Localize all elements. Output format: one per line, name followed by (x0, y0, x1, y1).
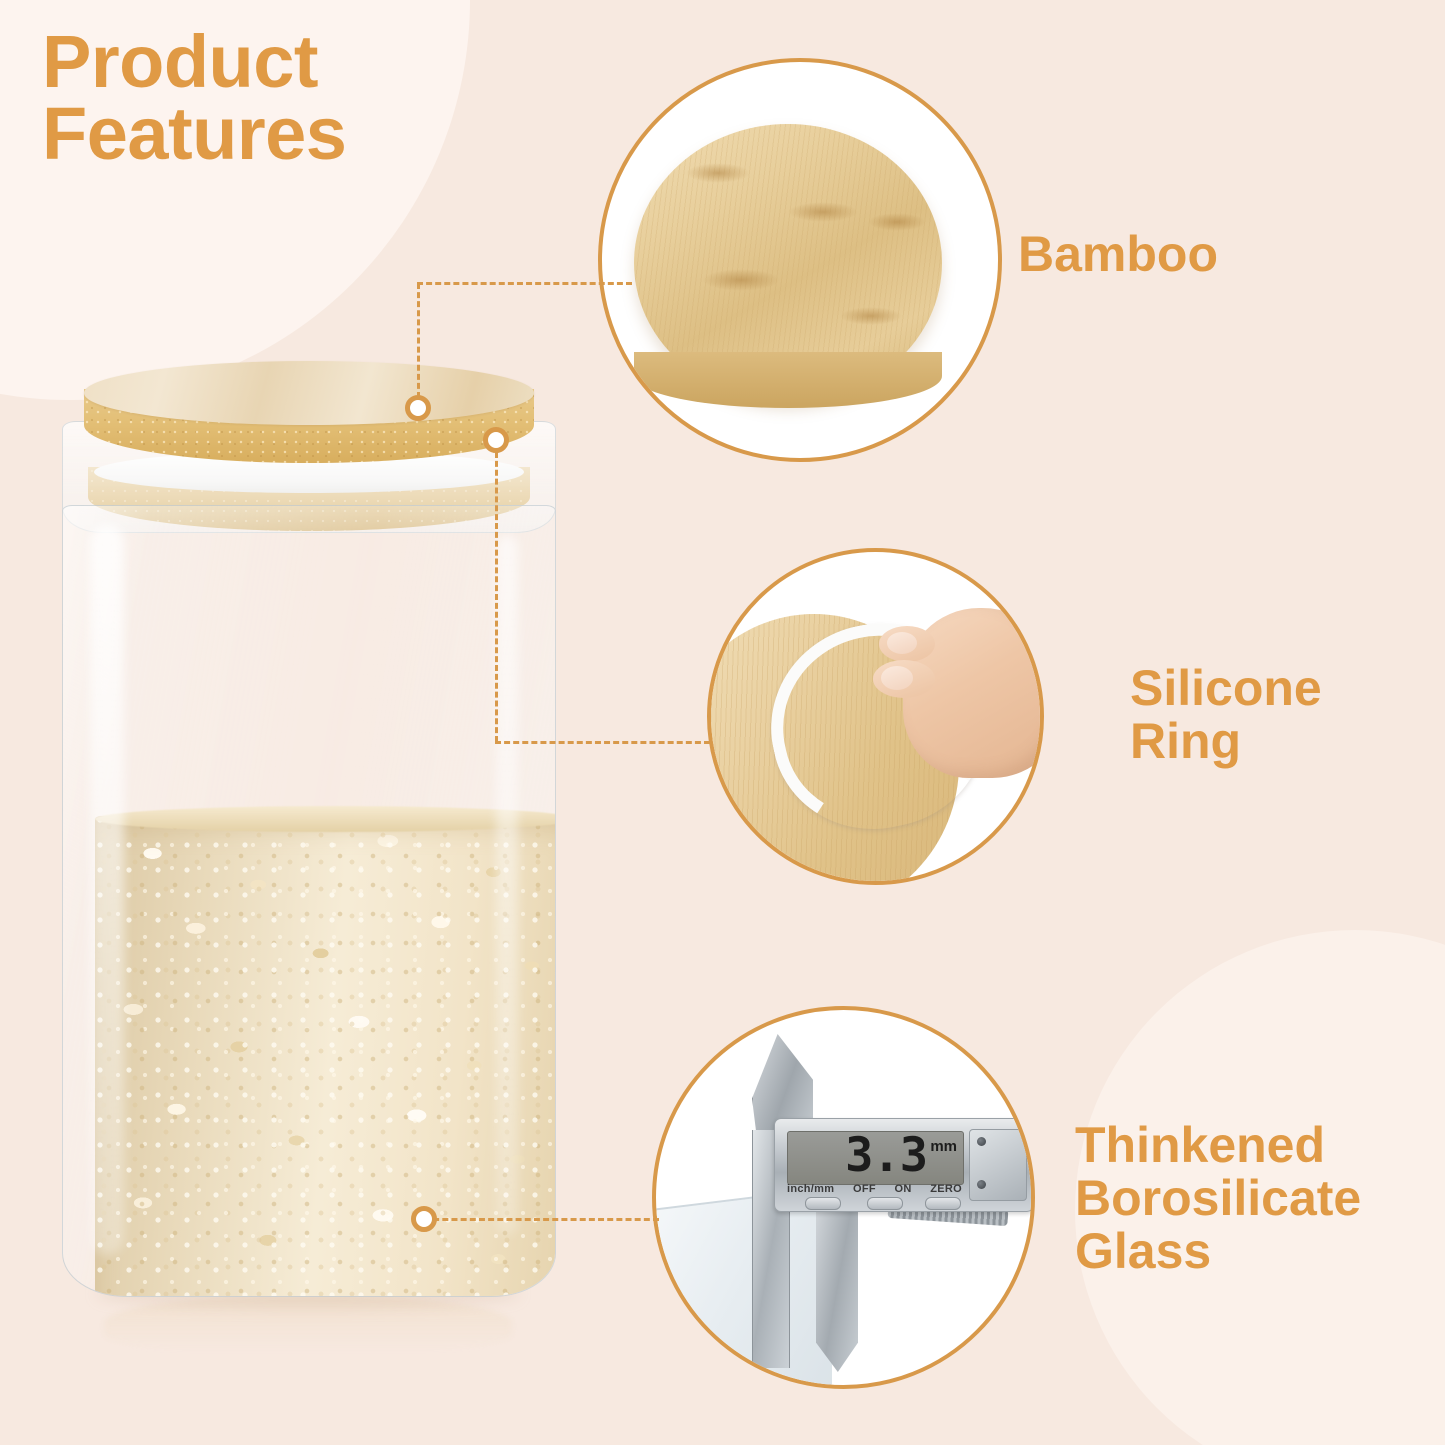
bamboo-grain-knot (686, 163, 750, 183)
caliper-side-plate (969, 1129, 1027, 1201)
caliper-reading: 3.3 (845, 1131, 927, 1183)
infographic-canvas: Product Features (0, 0, 1445, 1445)
feature-inset-silicone-ring (707, 548, 1044, 885)
bamboo-lid-top (84, 361, 534, 425)
bamboo-grain-knot (868, 213, 926, 231)
caliper-unit: mm (930, 1138, 957, 1155)
caliper-label-off: OFF (853, 1183, 876, 1195)
fingernail (881, 666, 913, 690)
bamboo-lid-edge (634, 352, 942, 408)
feature-inset-bamboo (598, 58, 1002, 462)
caliper-screw (977, 1180, 986, 1189)
feature-inset-borosilicate-glass: 3.3 mm inch/mm OFF ON ZERO (652, 1006, 1035, 1389)
glass-highlight-right (496, 535, 518, 1235)
bamboo-grain-knot (702, 269, 780, 291)
caliper-button-zero[interactable] (925, 1197, 961, 1210)
feature-label-glass: Thinkened Borosilicate Glass (1075, 1119, 1361, 1278)
page-title: Product Features (42, 26, 346, 170)
feature-label-silicone: Silicone Ring (1130, 662, 1322, 768)
digital-caliper-head: 3.3 mm inch/mm OFF ON ZERO (774, 1118, 1034, 1212)
jar-glass-body (62, 505, 556, 1297)
callout-dot-icon-bamboo[interactable] (405, 395, 431, 421)
measured-glass-wall (652, 1187, 832, 1389)
caliper-label-zero: ZERO (930, 1183, 962, 1195)
caliper-button-unit[interactable] (805, 1197, 841, 1210)
callout-dot-icon-silicone[interactable] (483, 427, 509, 453)
fingernail (887, 632, 917, 654)
caliper-lcd-screen: 3.3 mm (787, 1131, 964, 1185)
hand-illustration (903, 608, 1044, 778)
caliper-label-inchmm: inch/mm (787, 1183, 834, 1195)
callout-dot-icon-glass[interactable] (411, 1206, 437, 1232)
glass-highlight-left (90, 525, 124, 1255)
caliper-button-labels: inch/mm OFF ON ZERO (787, 1183, 962, 1195)
caliper-screw (977, 1137, 986, 1146)
product-jar-image (36, 355, 576, 1315)
bamboo-grain-knot (788, 202, 858, 222)
caliper-button-power[interactable] (867, 1197, 903, 1210)
oats-surface (95, 806, 556, 832)
feature-label-bamboo: Bamboo (1018, 228, 1218, 281)
bamboo-grain-knot (840, 307, 902, 325)
jar-contents-oats (95, 816, 556, 1297)
caliper-label-on: ON (895, 1183, 912, 1195)
